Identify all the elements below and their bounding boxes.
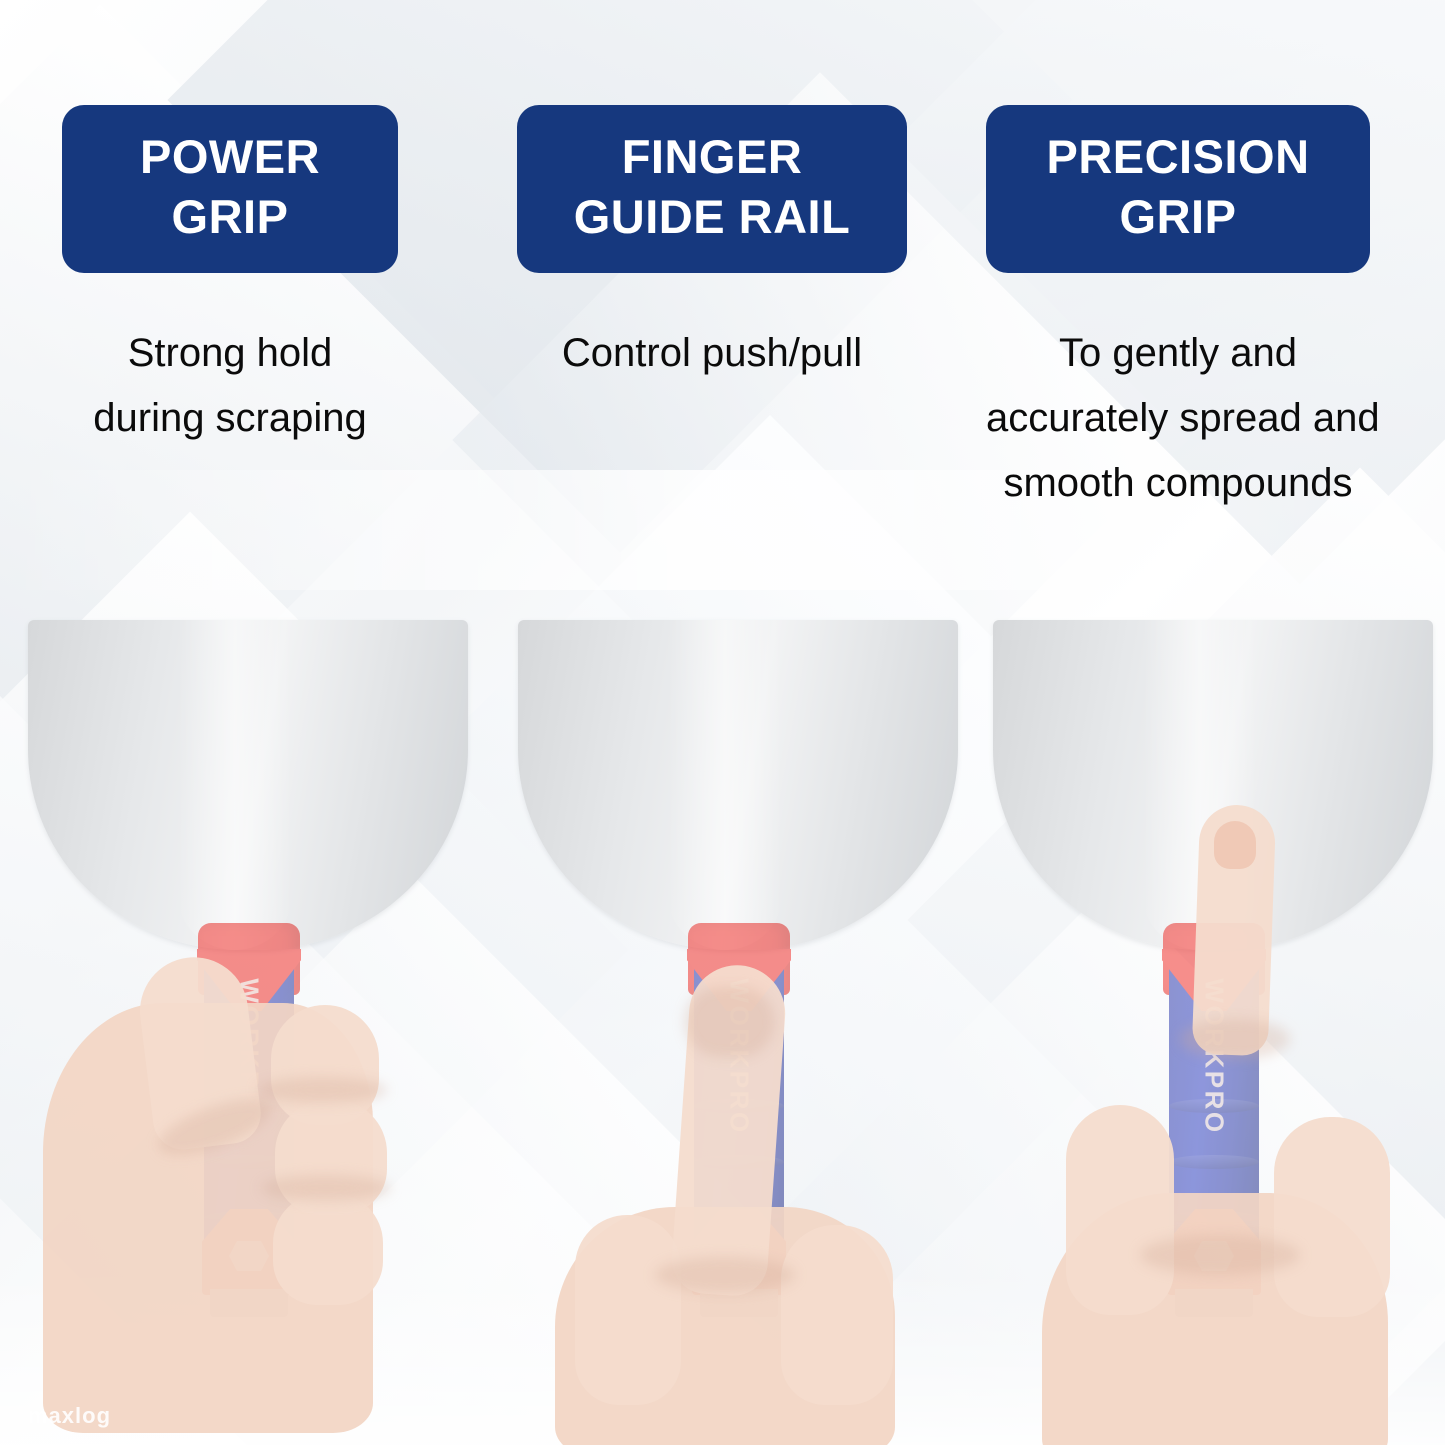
caption-line: Strong hold (62, 321, 398, 386)
caption-line: To gently and (986, 321, 1370, 386)
hang-hole (1194, 1241, 1234, 1271)
handle-butt (700, 1289, 778, 1317)
feature-power-grip: POWER GRIP Strong hold during scraping (62, 105, 398, 451)
badge-finger-guide-rail: FINGER GUIDE RAIL (517, 105, 907, 273)
putty-knife-handle: WORKPRO (196, 923, 302, 1323)
watermark: maxlog (28, 1403, 111, 1429)
hang-hole (229, 1241, 269, 1271)
caption-line: accurately spread and (986, 386, 1370, 451)
caption-precision-grip: To gently and accurately spread and smoo… (986, 321, 1370, 515)
brand-label: WORKPRO (234, 978, 265, 1134)
finger (1066, 1105, 1174, 1315)
badge-line: GRIP (172, 187, 289, 247)
badge-power-grip: POWER GRIP (62, 105, 398, 273)
product-finger-guide-rail: WORKPRO (500, 605, 970, 1445)
blade-highlight (668, 620, 782, 950)
handle-butt (1175, 1289, 1253, 1317)
putty-knife-blade (518, 620, 958, 950)
badge-line: FINGER (622, 127, 803, 187)
caption-line: smooth compounds (986, 451, 1370, 516)
badge-line: POWER (140, 127, 320, 187)
caption-power-grip: Strong hold during scraping (62, 321, 398, 451)
feature-precision-grip: PRECISION GRIP To gently and accurately … (986, 105, 1370, 516)
product-precision-grip: WORKPRO (975, 605, 1445, 1445)
badge-precision-grip: PRECISION GRIP (986, 105, 1370, 273)
putty-knife-handle: WORKPRO (686, 923, 792, 1323)
caption-finger-guide-rail: Control push/pull (517, 321, 907, 386)
caption-line: Control push/pull (517, 321, 907, 386)
hang-hole (719, 1241, 759, 1271)
product-power-grip: WORKPRO (10, 605, 480, 1445)
brand-label: WORKPRO (724, 978, 755, 1134)
caption-line: during scraping (62, 386, 398, 451)
feature-finger-guide-rail: FINGER GUIDE RAIL Control push/pull (517, 105, 907, 386)
grip-ridge (204, 1155, 294, 1169)
infographic-page: POWER GRIP Strong hold during scraping F… (0, 0, 1445, 1445)
feature-columns: POWER GRIP Strong hold during scraping F… (0, 0, 1445, 520)
handle-butt (210, 1289, 288, 1317)
putty-knife-blade (993, 620, 1433, 950)
putty-knife-handle: WORKPRO (1161, 923, 1267, 1323)
badge-line: PRECISION (1046, 127, 1309, 187)
brand-label: WORKPRO (1199, 978, 1230, 1134)
grip-ridge (694, 1155, 784, 1169)
putty-knife-blade (28, 620, 468, 950)
blade-highlight (178, 620, 292, 950)
finger (575, 1215, 681, 1405)
thumb (1274, 1117, 1390, 1317)
badge-line: GRIP (1120, 187, 1237, 247)
grip-ridge (1169, 1155, 1259, 1169)
thumb (781, 1225, 893, 1405)
blade-highlight (1143, 620, 1257, 950)
badge-line: GUIDE RAIL (574, 187, 851, 247)
